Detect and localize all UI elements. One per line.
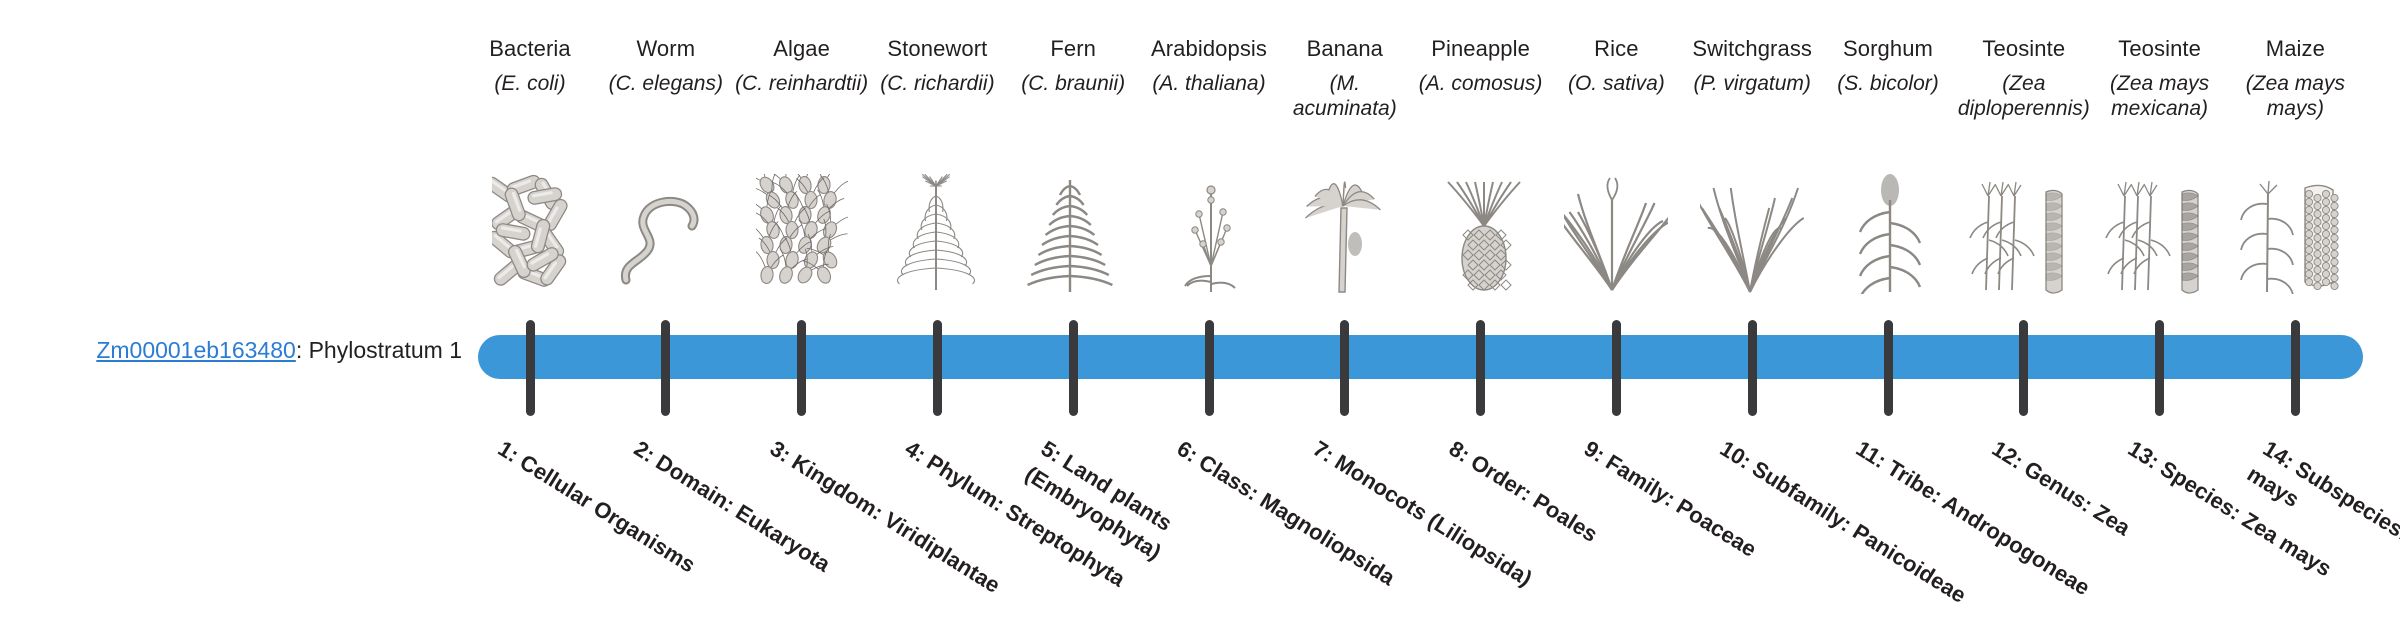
species-common-name: Stonewort [867, 36, 1007, 62]
arabidopsis-icon [1139, 164, 1279, 294]
gene-row-label: Zm00001eb163480: Phylostratum 1 [0, 336, 462, 364]
rank-label-12: 12: Genus: Zea [1986, 434, 2256, 618]
species-header-sorghum-10: Sorghum(S. bicolor) [1818, 36, 1958, 96]
stonewort-icon [867, 164, 1007, 294]
species-scientific-name: (M. acuminata) [1275, 71, 1415, 121]
species-header-bacteria-0: Bacteria(E. coli) [460, 36, 600, 96]
rank-label-7: 7: Monocots (Liliopsida) [1307, 434, 1577, 618]
species-common-name: Rice [1546, 36, 1686, 62]
rank-name: Kingdom: [787, 449, 887, 525]
rank-number: 8: [1444, 436, 1474, 468]
phylostratum-tick-8[interactable] [1476, 320, 1485, 416]
phylostratum-tick-3[interactable] [797, 320, 806, 416]
rank-name: Phylum: [923, 449, 1010, 516]
phylostratum-tick-10[interactable] [1748, 320, 1757, 416]
species-header-rice-8: Rice(O. sativa) [1546, 36, 1686, 96]
species-header-stonewort-3: Stonewort(C. richardii) [867, 36, 1007, 96]
species-scientific-name: (E. coli) [460, 71, 600, 96]
phylostratum-tick-11[interactable] [1884, 320, 1893, 416]
rank-value: Zea [2089, 499, 2134, 540]
rank-value: (Liliopsida) [1424, 508, 1537, 591]
bacteria-icon [460, 164, 600, 294]
rank-number: 3: [765, 436, 795, 468]
species-scientific-name: (C. braunii) [1003, 71, 1143, 96]
phylostratum-tick-14[interactable] [2291, 320, 2300, 416]
species-header-algae-2: Algae(C. reinhardtii) [732, 36, 872, 96]
species-scientific-name: (A. comosus) [1411, 71, 1551, 96]
phylostratum-tick-4[interactable] [933, 320, 942, 416]
species-common-name: Arabidopsis [1139, 36, 1279, 62]
teosinte-diplo-icon [1954, 164, 2094, 294]
species-common-name: Teosinte [1954, 36, 2094, 62]
rank-value: Eukaryota [731, 499, 834, 577]
rank-name: Tribe: [1883, 455, 1947, 508]
rank-number: 10: [1716, 436, 1756, 474]
rank-name: Monocots [1330, 449, 1431, 525]
species-scientific-name: (O. sativa) [1546, 71, 1686, 96]
rank-number: 7: [1308, 436, 1338, 468]
species-header-pineapple-7: Pineapple(A. comosus) [1411, 36, 1551, 96]
phylostratum-figure: Bacteria(E. coli) [0, 0, 2400, 580]
worm-icon [596, 164, 736, 294]
rank-label-1: 1: Cellular Organisms [492, 434, 762, 618]
rank-label-11: 11: Tribe: Andropogoneae [1850, 434, 2120, 618]
rank-value: Organisms [589, 495, 700, 577]
rank-name: Order: [1466, 449, 1536, 506]
rank-value: Viridiplantae [879, 507, 1004, 598]
phylostratum-tick-7[interactable] [1340, 320, 1349, 416]
gene-label-separator: : [296, 337, 309, 363]
rank-name: Domain: [651, 449, 739, 517]
species-common-name: Maize [2225, 36, 2365, 62]
rank-name: Species: [2155, 456, 2245, 525]
gene-id-link[interactable]: Zm00001eb163480 [96, 337, 296, 363]
species-common-name: Worm [596, 36, 736, 62]
rank-name: Class: [1194, 449, 1263, 505]
species-common-name: Banana [1275, 36, 1415, 62]
species-scientific-name: (Zea mays mexicana) [2090, 71, 2230, 121]
rank-value: Poaceae [1672, 493, 1761, 562]
maize-icon [2225, 164, 2365, 294]
species-common-name: Algae [732, 36, 872, 62]
species-scientific-name: (P. virgatum) [1682, 71, 1822, 96]
rank-label-3: 3: Kingdom: Viridiplantae [764, 434, 1034, 618]
phylostratum-track-bar[interactable] [478, 335, 2363, 379]
rank-number: 13: [2123, 436, 2163, 474]
species-header-banana-6: Banana(M. acuminata) [1275, 36, 1415, 121]
rank-name: Subfamily: [1748, 456, 1857, 537]
species-common-name: Fern [1003, 36, 1143, 62]
species-common-name: Bacteria [460, 36, 600, 62]
rank-number: 2: [629, 436, 659, 468]
pineapple-icon [1411, 164, 1551, 294]
banana-icon [1275, 164, 1415, 294]
species-header-arabidopsis-5: Arabidopsis(A. thaliana) [1139, 36, 1279, 96]
algae-icon [732, 164, 872, 294]
species-header-fern-4: Fern(C. braunii) [1003, 36, 1143, 96]
rank-value: Poales [1528, 488, 1601, 547]
rank-name: Cellular [515, 449, 597, 513]
rank-name: Subspecies: [2291, 456, 2400, 546]
phylostratum-tick-1[interactable] [526, 320, 535, 416]
rank-label-9: 9: Family: Poaceae [1578, 434, 1848, 618]
species-common-name: Sorghum [1818, 36, 1958, 62]
species-header-worm-1: Worm(C. elegans) [596, 36, 736, 96]
species-scientific-name: (C. reinhardtii) [732, 71, 872, 96]
switchgrass-icon [1682, 164, 1822, 294]
sorghum-icon [1818, 164, 1958, 294]
rank-name: Family: [1602, 449, 1681, 511]
species-header-teosinte-12: Teosinte(Zea mays mexicana) [2090, 36, 2230, 121]
rank-number: 11: [1852, 436, 1891, 473]
rank-label-8: 8: Order: Poales [1443, 434, 1713, 618]
species-header-teosinte-11: Teosinte(Zea diploperennis) [1954, 36, 2094, 121]
species-common-name: Pineapple [1411, 36, 1551, 62]
rank-value: Panicoideae [1849, 519, 1971, 608]
rank-label-10: 10: Subfamily: Panicoideae [1714, 434, 1984, 618]
phylostratum-tick-13[interactable] [2155, 320, 2164, 416]
phylostratum-value: Phylostratum 1 [309, 337, 462, 363]
fern-icon [1003, 164, 1143, 294]
phylostratum-tick-6[interactable] [1205, 320, 1214, 416]
rank-number: 12: [1987, 436, 2027, 474]
phylostratum-tick-9[interactable] [1612, 320, 1621, 416]
species-scientific-name: (A. thaliana) [1139, 71, 1279, 96]
species-common-name: Teosinte [2090, 36, 2230, 62]
species-scientific-name: (C. richardii) [867, 71, 1007, 96]
phylostratum-tick-5[interactable] [1069, 320, 1078, 416]
species-scientific-name: (C. elegans) [596, 71, 736, 96]
species-header-maize-13: Maize(Zea mays mays) [2225, 36, 2365, 121]
species-common-name: Switchgrass [1682, 36, 1822, 62]
species-scientific-name: (Zea diploperennis) [1954, 71, 2094, 121]
rice-icon [1546, 164, 1686, 294]
teosinte-mex-icon [2090, 164, 2230, 294]
rank-label-2: 2: Domain: Eukaryota [628, 434, 898, 618]
rank-name: Genus: [2020, 456, 2098, 517]
phylostratum-tick-12[interactable] [2019, 320, 2028, 416]
species-scientific-name: (Zea mays mays) [2225, 71, 2365, 121]
species-scientific-name: (S. bicolor) [1818, 71, 1958, 96]
species-header-switchgrass-9: Switchgrass(P. virgatum) [1682, 36, 1822, 96]
phylostratum-tick-2[interactable] [661, 320, 670, 416]
